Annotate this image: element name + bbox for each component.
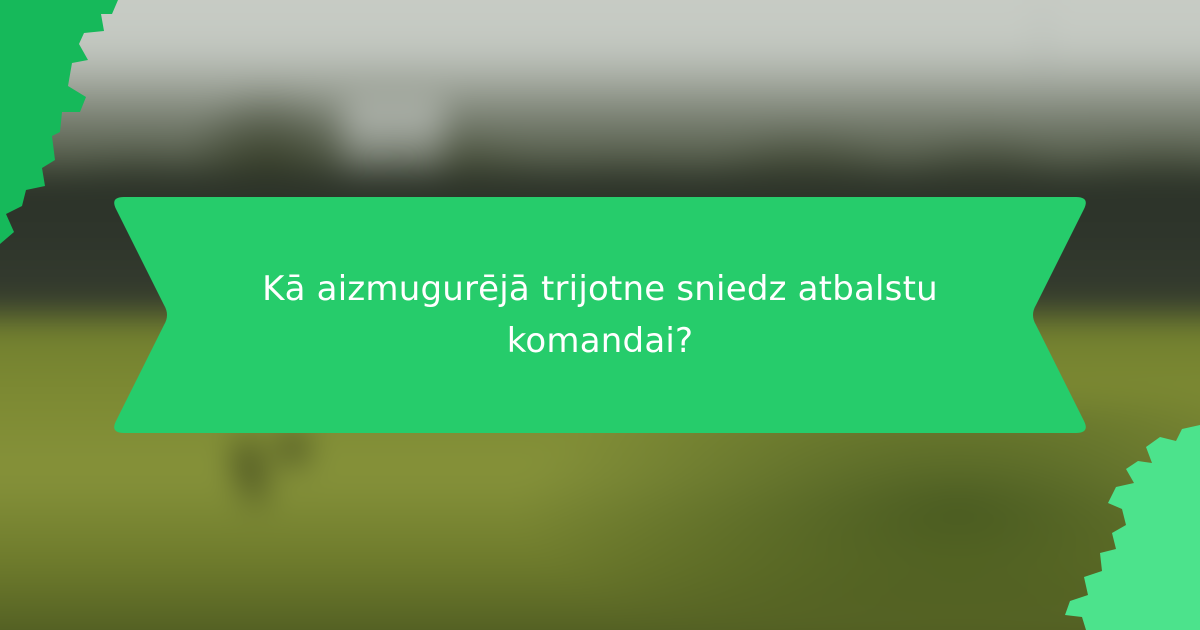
banner-text-block: Kā aizmugurējā trijotne sniedz atbalstu … bbox=[110, 197, 1090, 433]
ribbon-banner: Kā aizmugurējā trijotne sniedz atbalstu … bbox=[110, 197, 1090, 433]
jagged-green-shape-bottom-right bbox=[1060, 425, 1200, 630]
background-pole bbox=[1035, 3, 1049, 123]
social-card: Kā aizmugurējā trijotne sniedz atbalstu … bbox=[0, 0, 1200, 630]
banner-line-1: Kā aizmugurējā trijotne sniedz atbalstu bbox=[262, 263, 938, 315]
banner-line-2: komandai? bbox=[507, 315, 694, 367]
background-player-silhouette bbox=[216, 429, 326, 519]
background-goal-structure bbox=[344, 102, 444, 172]
